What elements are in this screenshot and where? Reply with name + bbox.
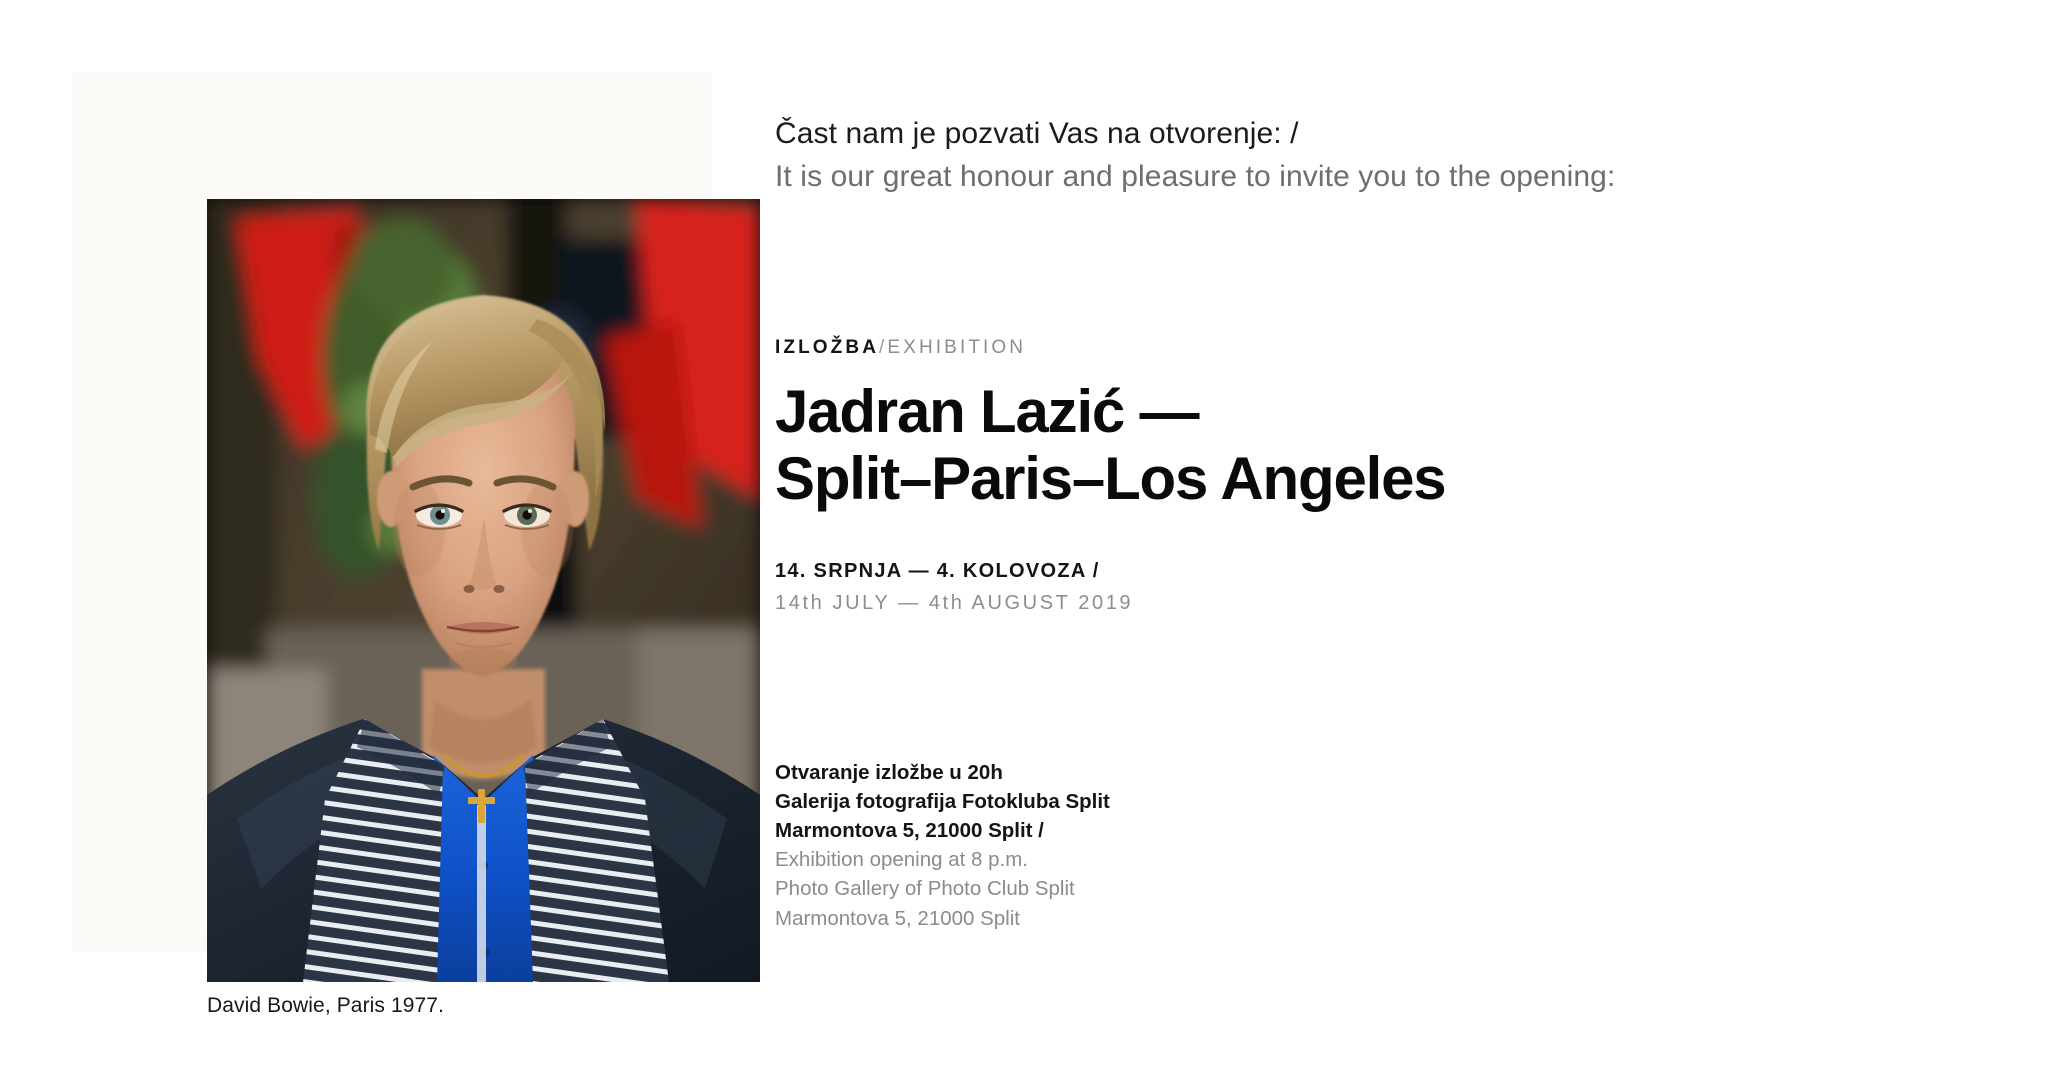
dates-english: 14th JULY — 4th AUGUST 2019 <box>775 592 1133 615</box>
venue-line: Photo Gallery of Photo Club Split <box>775 874 1110 903</box>
invitation-page: David Bowie, Paris 1977. Čast nam je poz… <box>0 0 2048 1072</box>
invitation-line-croatian: Čast nam je pozvati Vas na otvorenje: / <box>775 117 1299 151</box>
page-title: Jadran Lazić — Split–Paris–Los Angeles <box>775 378 1445 512</box>
exhibition-dates: 14. SRPNJA — 4. KOLOVOZA / 14th JULY — 4… <box>775 560 1133 615</box>
venue-line: Galerija fotografija Fotokluba Split <box>775 787 1110 816</box>
kicker-croatian: IZLOŽBA <box>775 337 879 358</box>
exhibition-kicker: IZLOŽBA/EXHIBITION <box>775 337 1026 359</box>
title-line-1: Jadran Lazić — <box>775 378 1198 445</box>
kicker-english: EXHIBITION <box>887 337 1026 358</box>
exhibition-photo <box>207 199 760 982</box>
dates-croatian: 14. SRPNJA — 4. KOLOVOZA / <box>775 560 1133 583</box>
venue-details: Otvaranje izložbe u 20h Galerija fotogra… <box>775 758 1110 933</box>
content-column: Čast nam je pozvati Vas na otvorenje: / … <box>775 0 1995 1072</box>
photo-caption: David Bowie, Paris 1977. <box>207 994 444 1018</box>
venue-line: Marmontova 5, 21000 Split / <box>775 816 1110 845</box>
venue-line: Marmontova 5, 21000 Split <box>775 904 1110 933</box>
photo-panel: David Bowie, Paris 1977. <box>72 72 712 952</box>
invitation-line-english: It is our great honour and pleasure to i… <box>775 160 1615 194</box>
venue-line: Otvaranje izložbe u 20h <box>775 758 1110 787</box>
title-line-2: Split–Paris–Los Angeles <box>775 445 1445 512</box>
venue-line: Exhibition opening at 8 p.m. <box>775 845 1110 874</box>
